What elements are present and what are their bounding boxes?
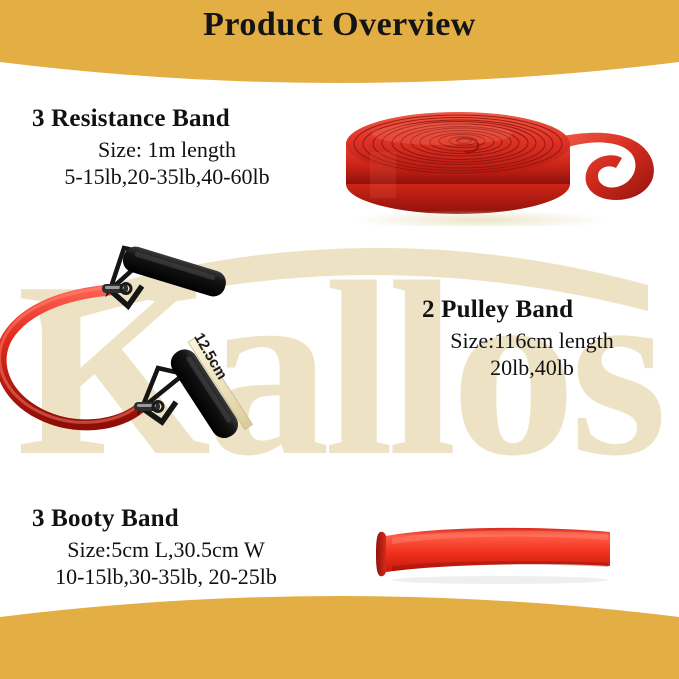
resistance-band-image [330,96,675,226]
pulley-band-info: 2 Pulley Band Size:116cm length 20lb,40l… [398,296,666,381]
booty-band-image [372,518,622,588]
booty-band-fold [376,532,386,577]
pulley-band-title: 2 Pulley Band [398,296,666,325]
booty-band-info: 3 Booty Band Size:5cm L,30.5cm W 10-15lb… [16,505,316,590]
booty-band-title: 3 Booty Band [16,505,316,534]
red-tube [1,290,140,425]
pulley-band-image [0,232,302,447]
page-title: Product Overview [0,6,679,44]
booty-band-weights: 10-15lb,30-35lb, 20-25lb [16,564,316,591]
carabiner-clip-top [102,284,131,294]
resistance-band-size: Size: 1m length [22,137,312,164]
resistance-band-weights: 5-15lb,20-35lb,40-60lb [22,164,312,191]
pulley-band-weights: 20lb,40lb [398,355,666,382]
resistance-band-title: 3 Resistance Band [22,105,312,134]
carabiner-clip-bottom [134,402,163,412]
band-loop-end [562,133,654,200]
pulley-handle-top [102,244,229,306]
resistance-band-info: 3 Resistance Band Size: 1m length 5-15lb… [22,105,312,190]
pulley-handle-bottom [134,337,252,443]
booty-band-size: Size:5cm L,30.5cm W [16,537,316,564]
pulley-band-size: Size:116cm length [398,328,666,355]
footer-gold-band [0,589,679,679]
product-overview-page: Product Overview Kallos [0,0,679,679]
